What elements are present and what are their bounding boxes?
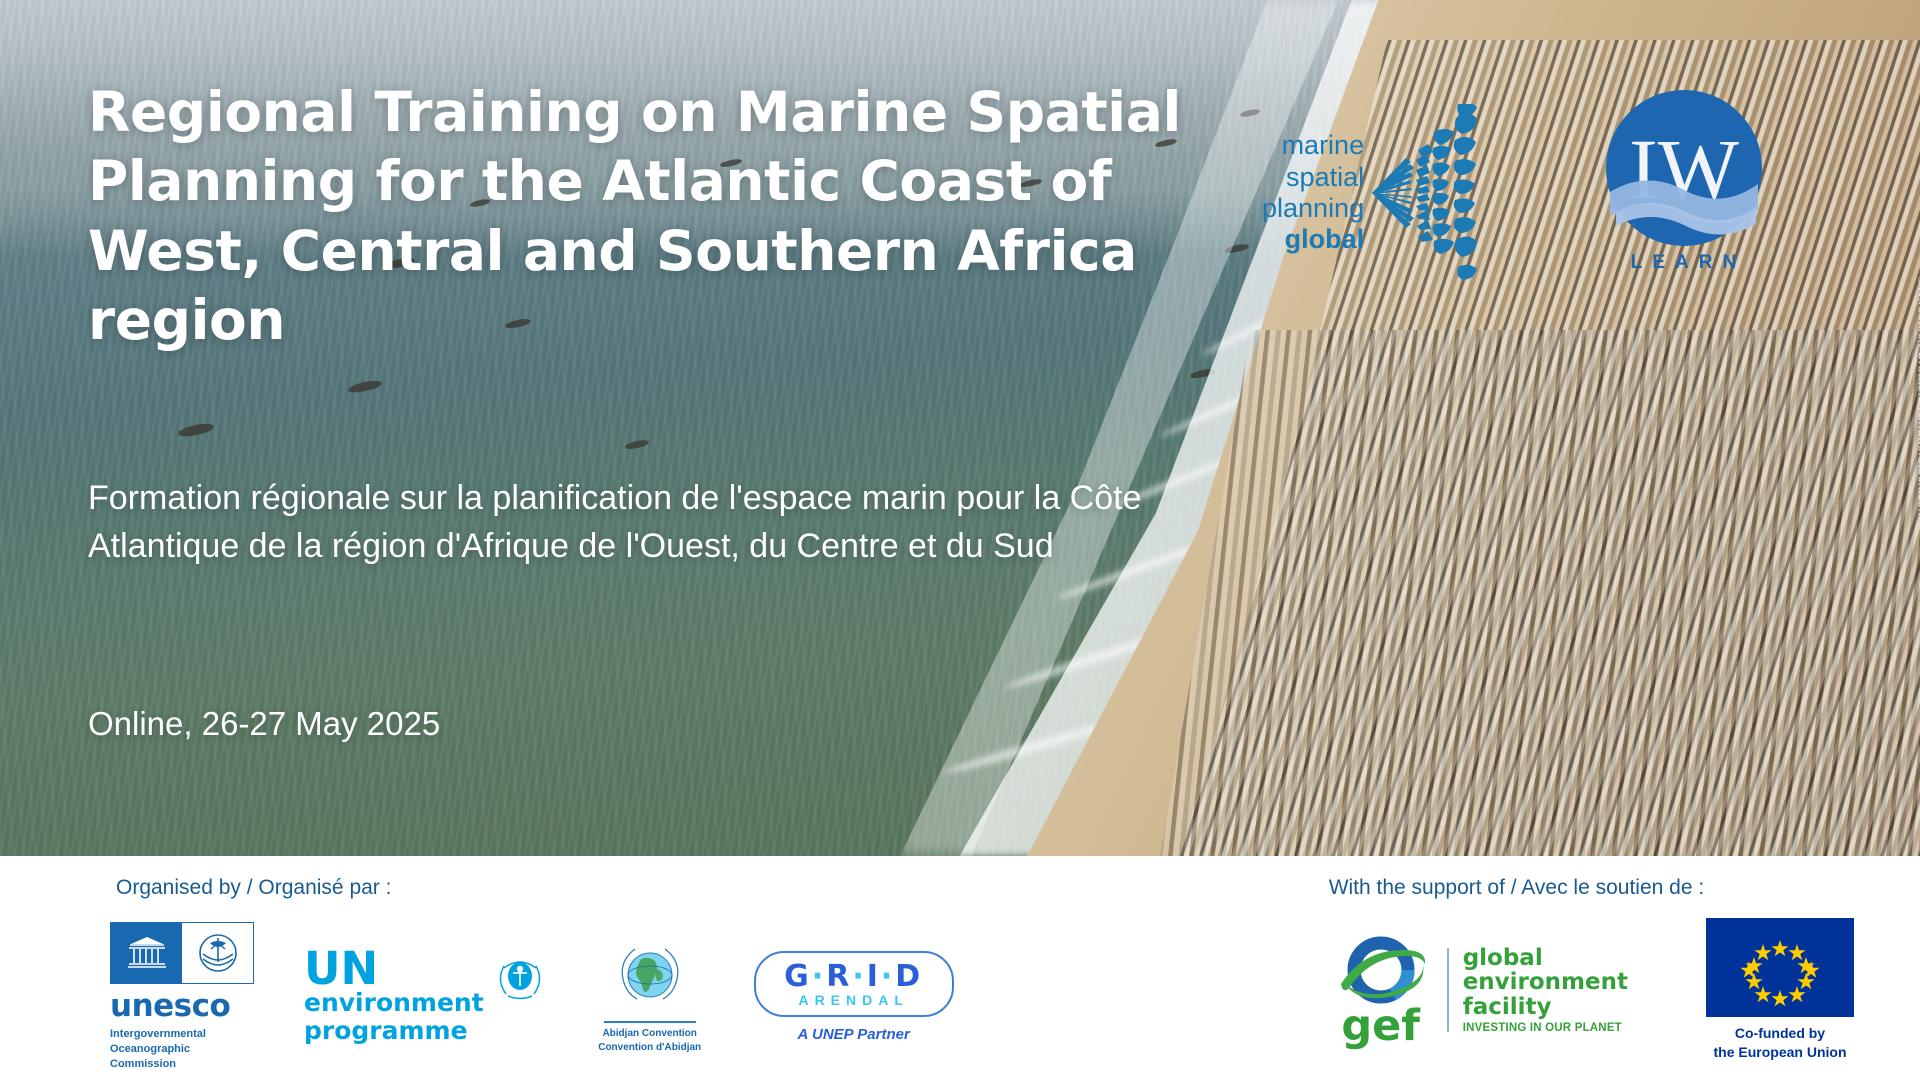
unesco-subtitle-line1: Intergovernmental [110,1027,260,1042]
unesco-temple-icon [111,923,182,983]
msp-line-global: global [1262,224,1364,255]
unep-logo: UN environment programme [304,948,546,1045]
event-date-location: Online, 26-27 May 2025 [88,705,440,743]
grid-arendal-frame: G·R·I·D ARENDAL [754,951,954,1017]
event-banner: ©Wirestock Creators /Shutterstock.com Re… [0,0,1920,1080]
abidjan-convention-logo: Abidjan Convention Convention d'Abidjan [590,939,710,1055]
organisers-block: Organised by / Organisé par : [110,876,954,1072]
eu-caption: Co-funded by the European Union [1700,1024,1860,1062]
unep-programme-text: programme [304,1017,484,1045]
photo-credit: ©Wirestock Creators /Shutterstock.com [1915,275,1920,520]
banner-subtitle-french: Formation régionale sur la planification… [88,474,1218,571]
iw-learn-circle-icon: IW [1604,88,1764,248]
unesco-wordmark: unesco [110,988,260,1024]
unesco-ioc-logo: unesco Intergovernmental Oceanographic C… [110,922,260,1072]
unesco-subtitle-line3: Commission [110,1057,260,1072]
organised-by-label: Organised by / Organisé par : [110,876,954,900]
arendal-wordmark: ARENDAL [770,992,938,1008]
msp-global-logo: marine spatial planning global [1262,104,1478,282]
un-emblem-icon [494,950,546,1002]
gef-line-environment: environment [1463,970,1628,994]
grid-arendal-logo: G·R·I·D ARENDAL A UNEP Partner [754,951,954,1043]
eu-caption-line1: Co-funded by [1700,1024,1860,1043]
iw-learn-logo: IW LEARN [1596,88,1771,274]
unep-partner-tagline: A UNEP Partner [754,1026,954,1043]
unep-wordmark: UN environment programme [304,948,484,1045]
abidjan-line-en: Abidjan Convention [590,1027,710,1041]
gef-globe-swoosh-icon [1335,936,1427,1010]
pirogue-fleet-lower [1160,330,1920,856]
unep-un-text: UN [304,948,484,989]
gef-tagline: INVESTING IN OUR PLANET [1463,1022,1628,1034]
abidjan-wordmark: Abidjan Convention Convention d'Abidjan [590,1027,710,1055]
iw-learn-wordmark: LEARN [1596,252,1771,274]
ioc-emblem-icon [182,923,253,983]
grid-dot-1: · [812,959,826,994]
grid-letter-r: R [826,959,852,994]
msp-line-planning: planning [1262,193,1364,224]
banner-title: Regional Training on Marine Spatial Plan… [88,78,1208,355]
gef-emblem: gef [1329,936,1433,1043]
gef-fullname: global environment facility INVESTING IN… [1463,946,1628,1034]
msp-global-wordmark: marine spatial planning global [1262,130,1364,255]
support-label: With the support of / Avec le soutien de… [1329,876,1860,900]
unep-environment-text: environment [304,989,484,1017]
grid-dot-2: · [852,959,866,994]
abidjan-line-fr: Convention d'Abidjan [590,1041,710,1055]
gef-divider [1447,948,1449,1032]
gef-line-global: global [1463,946,1628,970]
msp-line-marine: marine [1262,130,1364,161]
grid-letter-d: D [895,959,923,994]
msp-line-spatial: spatial [1262,162,1364,193]
footer-bar: Organised by / Organisé par : [0,856,1920,1080]
unesco-emblem-box [110,922,254,984]
gef-line-facility: facility [1463,995,1628,1019]
grid-dot-3: · [881,959,895,994]
eu-caption-line2: the European Union [1700,1043,1860,1062]
eu-flag-icon [1706,918,1854,1017]
abidjan-globe-wreath-icon [613,939,687,1011]
gef-logo: gef global environment facility INVESTIN… [1329,936,1628,1043]
abidjan-divider [604,1021,696,1023]
supporter-logo-row: gef global environment facility INVESTIN… [1329,918,1860,1062]
unesco-subtitle: Intergovernmental Oceanographic Commissi… [110,1027,260,1072]
grid-letter-i: I [867,959,881,994]
grid-wordmark: G·R·I·D [770,959,938,994]
european-union-logo: Co-funded by the European Union [1700,918,1860,1062]
unesco-subtitle-line2: Oceanographic [110,1042,260,1057]
gef-wordmark: gef [1329,1009,1433,1043]
grid-letter-g: G [784,959,812,994]
organiser-logo-row: unesco Intergovernmental Oceanographic C… [110,922,954,1072]
supporters-block: With the support of / Avec le soutien de… [1329,876,1860,1062]
msp-global-fan-mosaic-icon [1370,104,1478,282]
